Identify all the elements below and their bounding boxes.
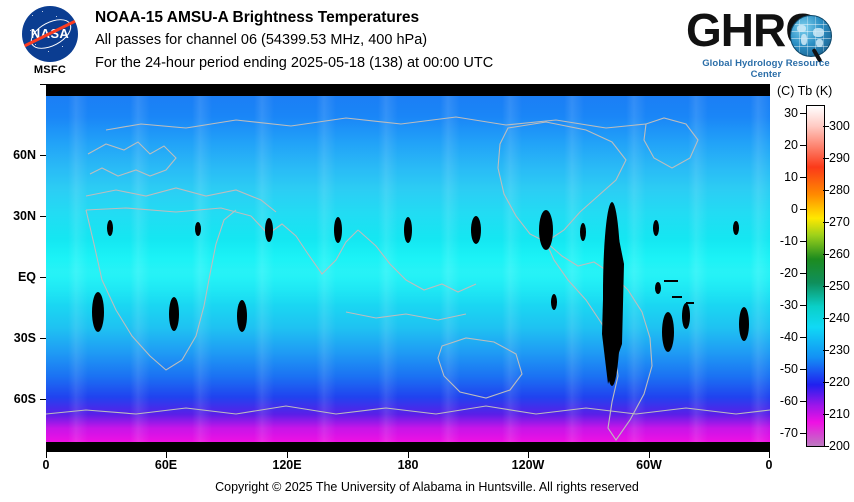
- lon-label-60e: 60E: [146, 458, 186, 472]
- colorbar-header: (C) Tb (K): [777, 84, 853, 98]
- ghrc-logo: GHRC Global Hydrology Resource Center: [686, 8, 848, 74]
- cb-kelvin-230: 230: [829, 343, 850, 357]
- header: NASA MSFC NOAA-15 AMSU-A Brightness Temp…: [0, 0, 854, 82]
- cb-celsius-m10: -10: [768, 234, 798, 248]
- coastlines-and-gaps-overlay: [46, 84, 770, 452]
- lon-label-0w: 0: [26, 458, 66, 472]
- lat-label-60n: 60N: [0, 148, 36, 162]
- lat-label-60s: 60S: [0, 392, 36, 406]
- cb-kelvin-300: 300: [829, 119, 850, 133]
- brightness-temperature-map[interactable]: [46, 84, 770, 452]
- cb-kelvin-280: 280: [829, 183, 850, 197]
- lat-tick-30s: [40, 338, 46, 339]
- ghrc-tagline: Global Hydrology Resource Center: [688, 58, 844, 80]
- cb-celsius-20: 20: [768, 138, 798, 152]
- page-title: NOAA-15 AMSU-A Brightness Temperatures: [95, 9, 419, 27]
- nasa-insignia-icon: NASA: [22, 6, 78, 62]
- cb-kelvin-290: 290: [829, 151, 850, 165]
- lat-tick-60s: [40, 399, 46, 400]
- cb-celsius-m40: -40: [768, 330, 798, 344]
- cb-celsius-10: 10: [768, 170, 798, 184]
- map-canvas: [46, 84, 770, 452]
- cb-celsius-m20: -20: [768, 266, 798, 280]
- cb-kelvin-200: 200: [829, 439, 850, 453]
- lon-label-0e: 0: [749, 458, 789, 472]
- cb-celsius-m30: -30: [768, 298, 798, 312]
- cb-celsius-0: 0: [768, 202, 798, 216]
- lon-label-60w: 60W: [629, 458, 669, 472]
- lat-tick-60n: [40, 155, 46, 156]
- lon-label-180: 180: [388, 458, 428, 472]
- cb-kelvin-270: 270: [829, 215, 850, 229]
- lat-tick-30n: [40, 216, 46, 217]
- lat-tick-eq: [40, 277, 46, 278]
- cb-kelvin-220: 220: [829, 375, 850, 389]
- cb-kelvin-260: 260: [829, 247, 850, 261]
- cb-celsius-m60: -60: [768, 394, 798, 408]
- lon-label-120e: 120E: [265, 458, 309, 472]
- lon-label-120w: 120W: [506, 458, 550, 472]
- lat-label-30n: 30N: [0, 209, 36, 223]
- channel-subtitle: All passes for channel 06 (54399.53 MHz,…: [95, 32, 427, 48]
- period-subtitle: For the 24-hour period ending 2025-05-18…: [95, 55, 493, 71]
- orbit-swath-gaps: [92, 202, 749, 386]
- nasa-logo: NASA MSFC: [14, 6, 86, 80]
- temperature-colorbar[interactable]: [806, 105, 825, 447]
- cb-kelvin-250: 250: [829, 279, 850, 293]
- cb-kelvin-240: 240: [829, 311, 850, 325]
- cb-celsius-m50: -50: [768, 362, 798, 376]
- lat-label-30s: 30S: [0, 331, 36, 345]
- cb-celsius-30: 30: [768, 106, 798, 120]
- lat-label-eq: EQ: [0, 270, 36, 284]
- copyright-notice: Copyright © 2025 The University of Alaba…: [0, 480, 854, 494]
- cb-kelvin-210: 210: [829, 407, 850, 421]
- cb-celsius-m70: -70: [768, 426, 798, 440]
- nasa-center-label: MSFC: [14, 64, 86, 76]
- coastlines: [46, 117, 770, 440]
